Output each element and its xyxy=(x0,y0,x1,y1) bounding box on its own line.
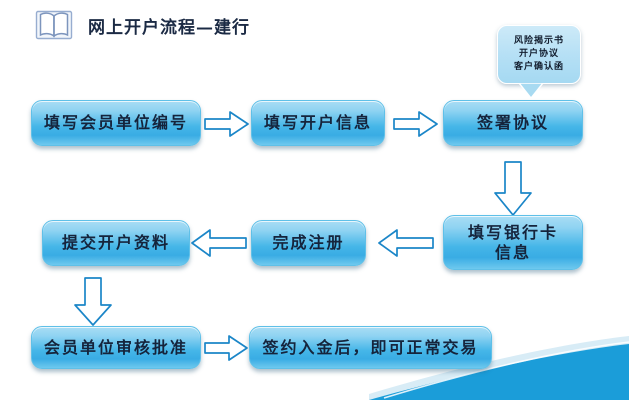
page-title: 网上开户流程—建行 xyxy=(88,13,250,38)
page-title-row: 网上开户流程—建行 xyxy=(34,8,250,42)
callout-bubble-text: 风险揭示书 开户协议 客户确认函 xyxy=(514,35,564,74)
arrow-right-icon-1 xyxy=(203,110,251,142)
callout-bubble-sign-agreement: 风险揭示书 开户协议 客户确认函 xyxy=(497,25,581,84)
process-box-label: 签约入金后，即可正常交易 xyxy=(262,338,478,358)
process-box-label: 填写银行卡 信息 xyxy=(468,223,558,263)
arrow-left-icon-2 xyxy=(377,228,435,262)
process-box-label: 填写开户信息 xyxy=(264,113,372,133)
process-box-sign-agreement[interactable]: 签署协议 xyxy=(443,100,583,146)
process-box-fill-bank-card-info[interactable]: 填写银行卡 信息 xyxy=(443,215,583,270)
process-box-label: 完成注册 xyxy=(272,233,344,253)
arrow-left-icon-1 xyxy=(190,228,248,262)
process-box-fill-member-unit-code[interactable]: 填写会员单位编号 xyxy=(31,100,201,146)
process-box-submit-account-materials[interactable]: 提交开户资料 xyxy=(42,220,190,266)
process-box-label: 提交开户资料 xyxy=(62,233,170,253)
process-box-label: 签署协议 xyxy=(477,113,549,133)
open-book-icon xyxy=(34,8,74,42)
slide-canvas: 网上开户流程—建行 风险揭示书 开户协议 客户确认函 填写会员单位编号 填写开户… xyxy=(0,0,629,400)
arrow-right-icon-3 xyxy=(203,334,249,366)
arrow-down-icon-2 xyxy=(72,276,114,332)
process-box-label: 填写会员单位编号 xyxy=(44,113,188,133)
arrow-right-icon-2 xyxy=(392,110,440,142)
process-box-label: 会员单位审核批准 xyxy=(44,338,188,358)
process-box-complete-registration[interactable]: 完成注册 xyxy=(251,220,366,266)
process-box-member-unit-approval[interactable]: 会员单位审核批准 xyxy=(31,326,201,369)
arrow-down-icon-1 xyxy=(492,160,534,222)
process-box-trade-normally[interactable]: 签约入金后，即可正常交易 xyxy=(249,326,492,369)
callout-tail-icon xyxy=(518,83,544,99)
process-box-fill-account-info[interactable]: 填写开户信息 xyxy=(251,100,385,146)
